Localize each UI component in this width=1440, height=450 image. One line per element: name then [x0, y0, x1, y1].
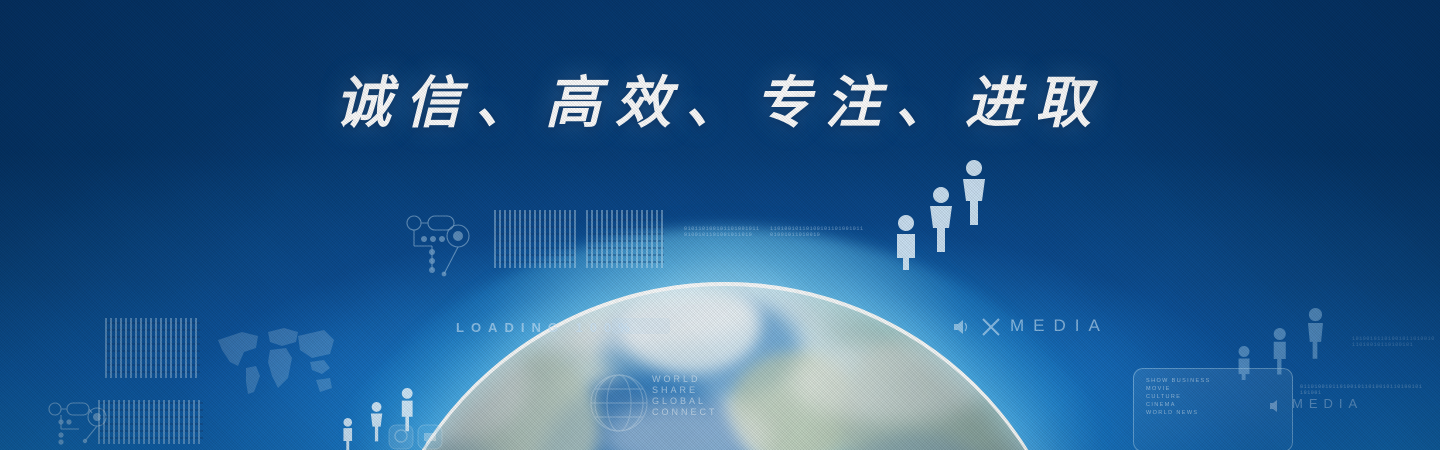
people-group-main — [885, 160, 995, 270]
cloud-mid-2 — [790, 342, 990, 422]
loading-label: LOADING 100% — [456, 320, 637, 335]
world-map-icon — [212, 322, 338, 400]
world-label-line-4: CONNECT — [652, 407, 742, 418]
media-label-right: MEDIA — [1292, 396, 1363, 411]
world-label-line-3: GLOBAL — [652, 396, 742, 407]
person-icon-3 — [963, 160, 985, 225]
code-block-center-2 — [586, 210, 664, 268]
binary-stream-2: 1101001011010010110100101101001011010010 — [770, 226, 866, 268]
person-icon-2 — [930, 187, 952, 252]
panel-item-1[interactable]: MOVIE — [1146, 385, 1292, 393]
close-x-icon — [980, 316, 1002, 338]
world-label-line-1: WORLD — [652, 374, 742, 385]
globe-atmosphere-rim — [370, 282, 1080, 450]
cloud-north-band — [430, 282, 760, 352]
code-block-center-1 — [494, 210, 576, 268]
world-label-line-2: SHARE — [652, 385, 742, 396]
hero-banner: 0101101001011010010110100101101001011010… — [0, 0, 1440, 450]
code-block-left-2 — [98, 400, 203, 444]
speaker-icon — [952, 318, 972, 336]
loading-bar-segment — [612, 318, 670, 334]
panel-item-0[interactable]: SHOW BUSINESS — [1146, 377, 1292, 385]
speaker-icon-right — [1268, 398, 1286, 414]
binary-stream-1: 0101101001011010010110100101101001011010 — [684, 226, 760, 268]
globe-sphere — [370, 282, 1080, 450]
page-title: 诚信、高效、专注、进取 — [0, 58, 1440, 139]
world-label-group: WORLD SHARE GLOBAL CONNECT — [652, 374, 742, 418]
network-node-icon-2 — [402, 208, 474, 286]
globe-grid-icon — [588, 372, 650, 434]
media-label: MEDIA — [1010, 316, 1109, 336]
binary-stream-4: 1010010110100101101001011010010110100101 — [1352, 336, 1436, 376]
chat-bubble-icon — [388, 424, 444, 450]
code-block-left-1 — [105, 318, 200, 378]
ocean-indian — [810, 432, 1020, 450]
person-icon-1 — [897, 215, 915, 270]
globe-shading — [370, 282, 1080, 450]
land-europe — [730, 352, 860, 450]
land-asia — [840, 322, 1070, 450]
